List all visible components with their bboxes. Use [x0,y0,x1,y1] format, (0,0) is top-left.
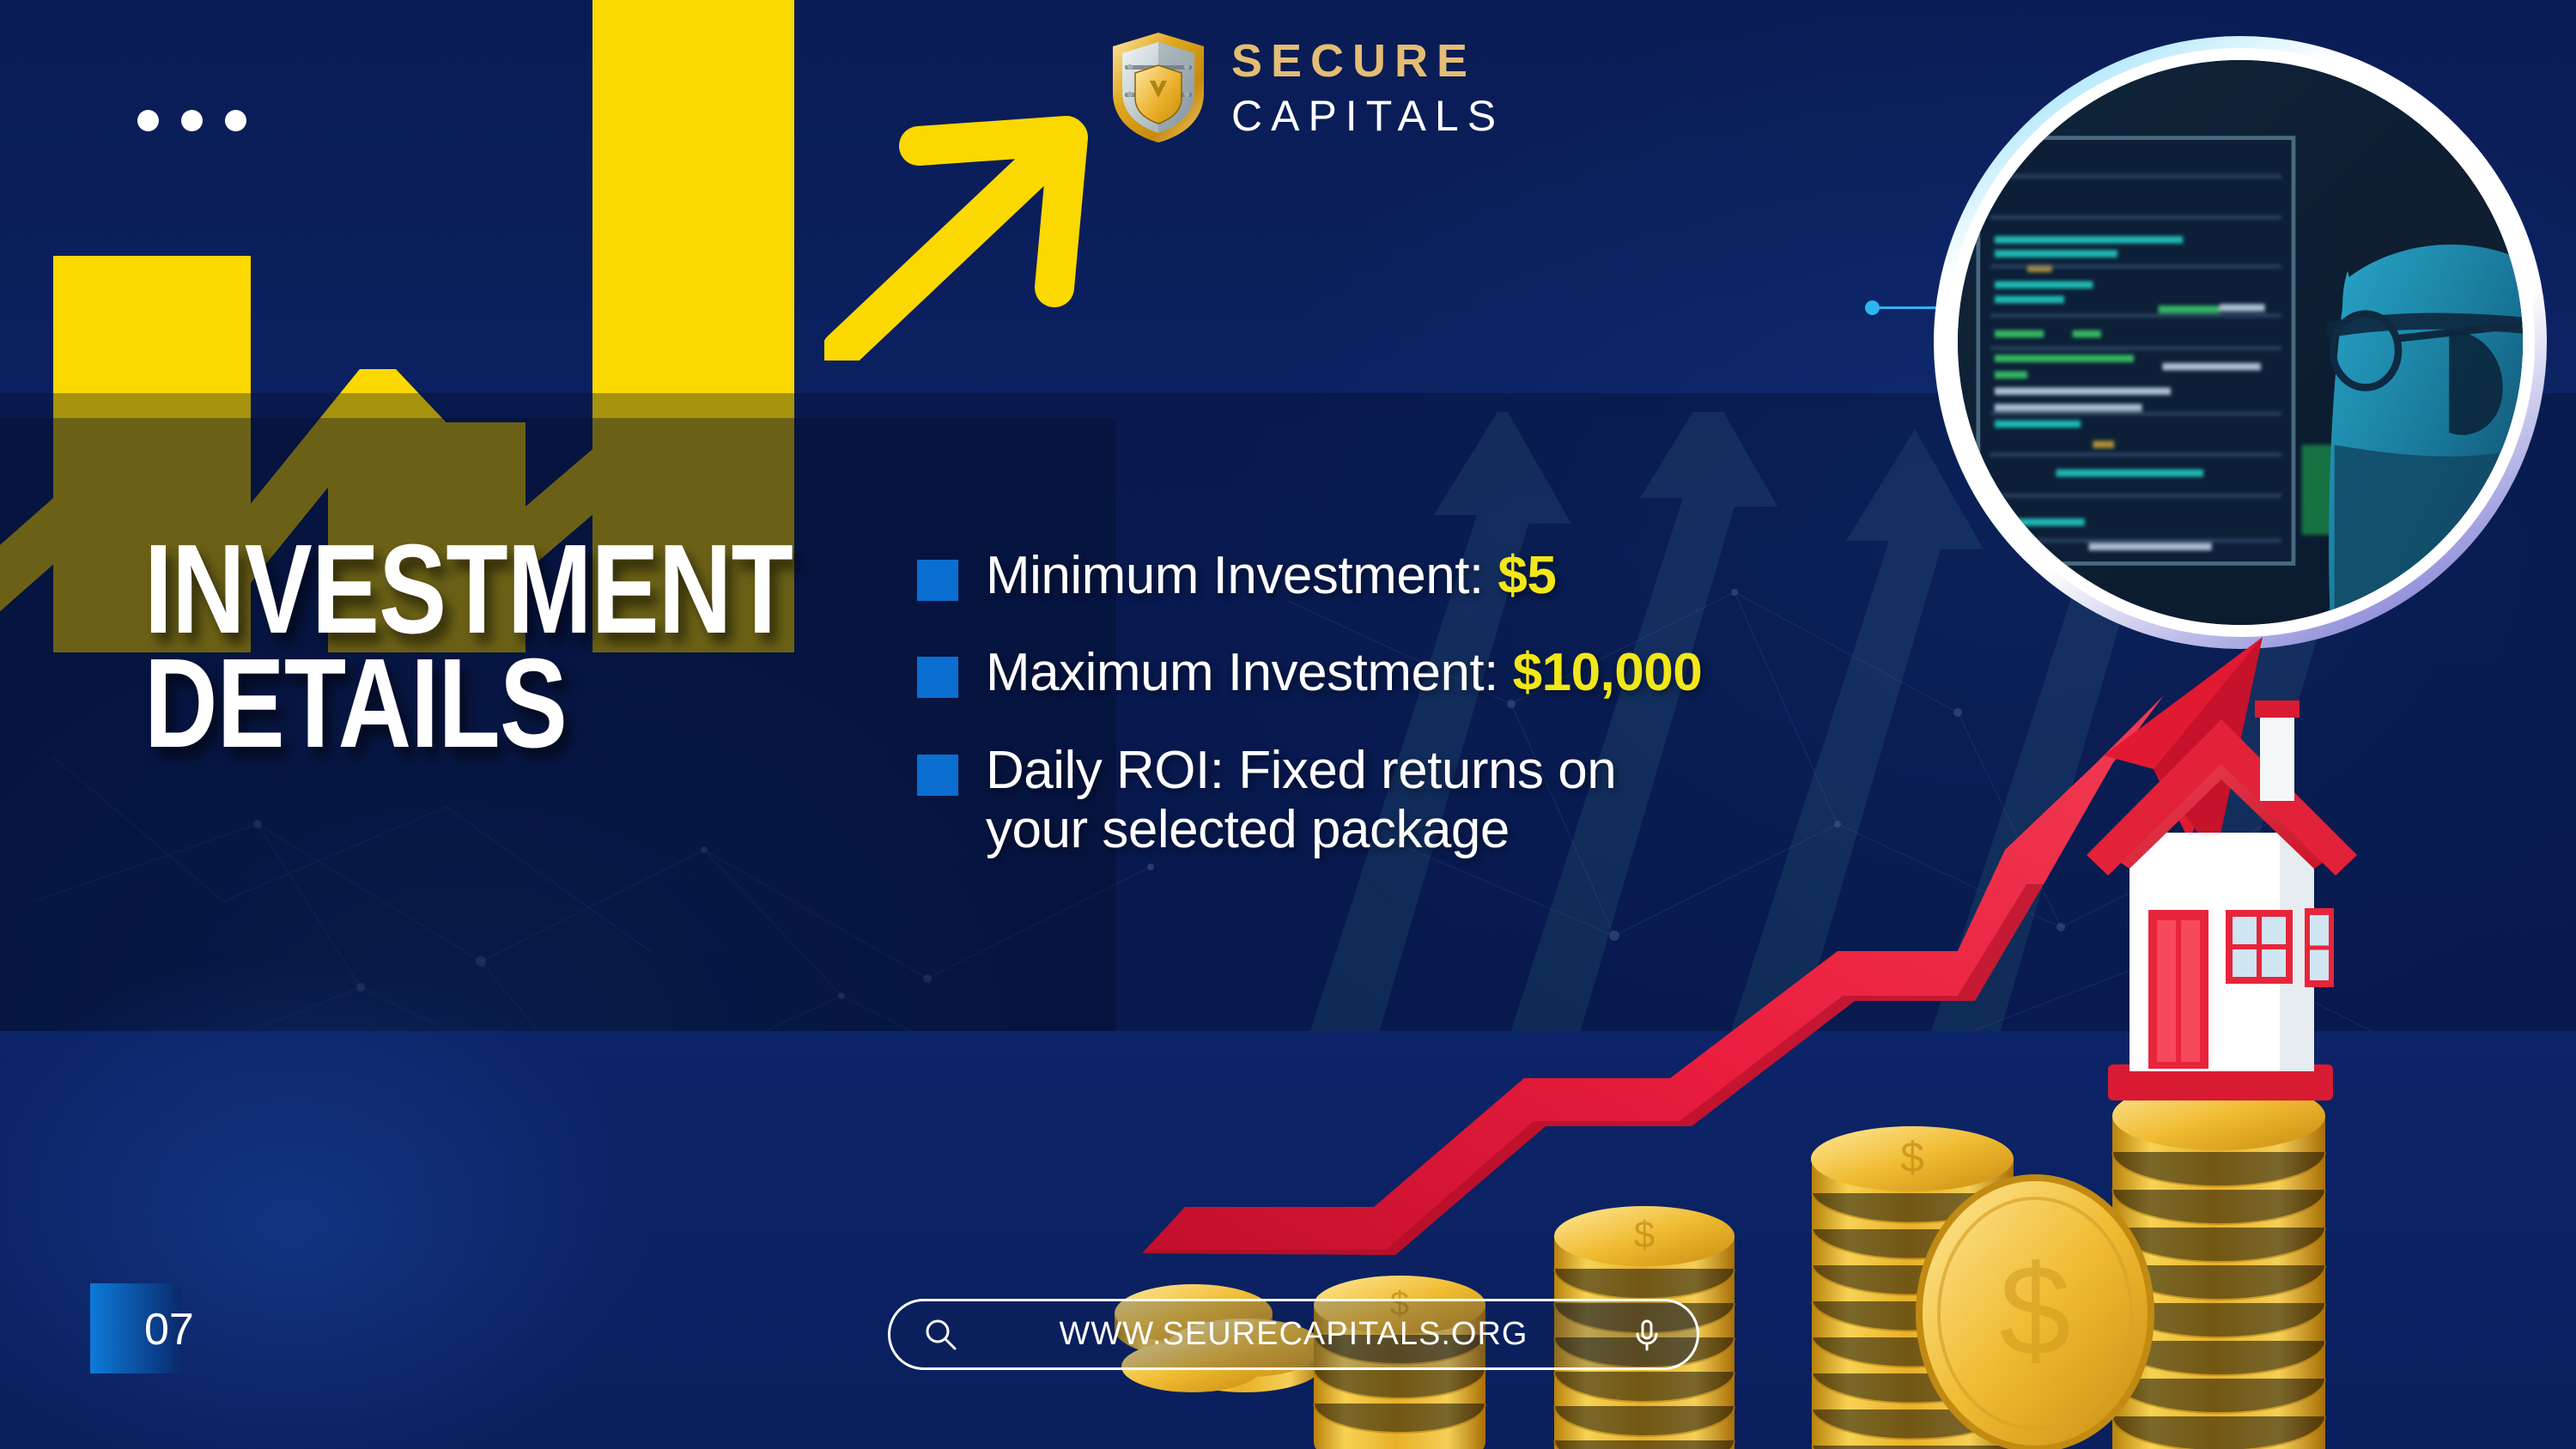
three-dots-icon [137,110,246,131]
search-icon[interactable] [921,1316,959,1354]
slide-canvas: SECURE CAPITALS [0,0,2576,1449]
standing-coin: $ [1919,1178,2151,1449]
bullet-square-icon [917,560,958,601]
brand-name-top: SECURE [1231,38,1504,84]
brand-logo: SECURE CAPITALS [1108,31,1504,144]
page-number: 07 [144,1304,194,1355]
red-growth-arrow-icon [1140,637,2263,1255]
svg-text:$: $ [1634,1214,1655,1256]
url-text: WWW.SEURECAPITALS.ORG [959,1316,1628,1353]
up-arrow-icon [824,112,1099,361]
brand-name-bottom: CAPITALS [1231,94,1504,137]
svg-text:$: $ [1999,1238,2070,1382]
search-bar[interactable]: WWW.SEURECAPITALS.ORG [888,1299,1699,1370]
shield-icon [1108,31,1209,144]
page-title: INVESTMENT DETAILS [144,532,762,761]
bullet-square-icon [917,755,958,796]
microphone-icon[interactable] [1628,1316,1666,1354]
bullet-square-icon [917,657,958,698]
svg-text:$: $ [1900,1133,1924,1181]
